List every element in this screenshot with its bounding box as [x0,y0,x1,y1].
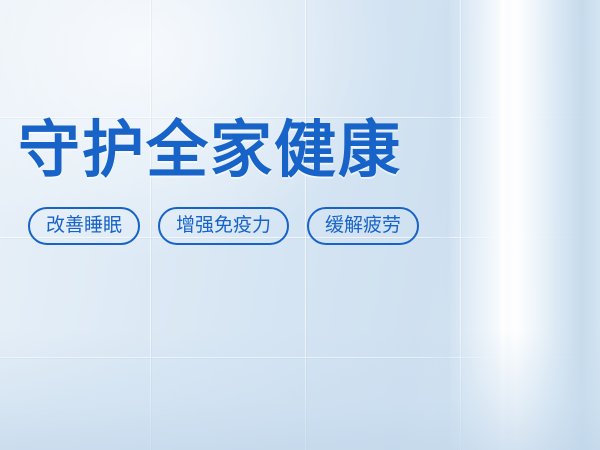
benefit-tag-sleep: 改善睡眠 [28,207,140,245]
promo-banner: 守护全家健康 改善睡眠 增强免疫力 缓解疲劳 [0,0,600,450]
benefit-tag-list: 改善睡眠 增强免疫力 缓解疲劳 [28,207,538,245]
floor-shading [0,330,600,450]
benefit-tag-immunity: 增强免疫力 [158,207,289,245]
benefit-tag-fatigue: 缓解疲劳 [307,207,419,245]
page-title: 守护全家健康 [18,118,538,183]
banner-content: 守护全家健康 改善睡眠 增强免疫力 缓解疲劳 [18,118,538,245]
